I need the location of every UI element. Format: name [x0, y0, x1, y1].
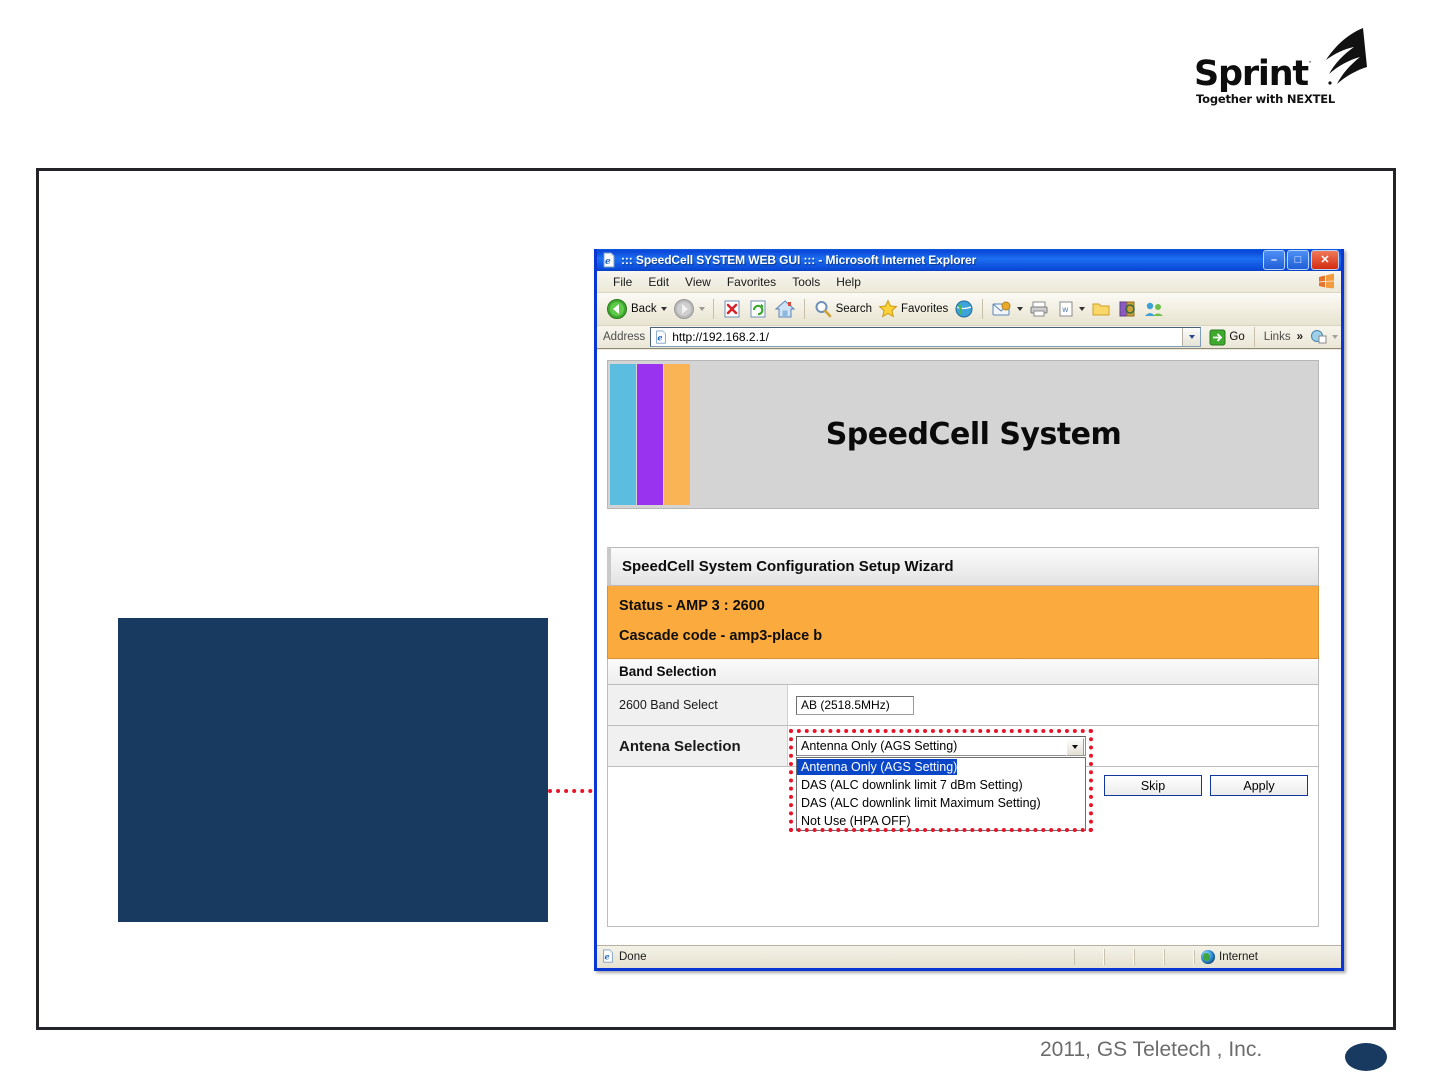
- snapshot-icon: [1310, 329, 1328, 345]
- browser-titlebar: e ::: SpeedCell SYSTEM WEB GUI ::: - Mic…: [597, 249, 1341, 271]
- address-extra-button[interactable]: [1307, 324, 1341, 350]
- band-select-input[interactable]: AB (2518.5MHz): [796, 696, 914, 715]
- address-chevron-down-icon[interactable]: [1182, 328, 1200, 346]
- refresh-button[interactable]: [745, 296, 771, 322]
- menu-item-view[interactable]: View: [677, 275, 719, 289]
- go-button[interactable]: Go: [1205, 329, 1248, 346]
- page-viewport: SpeedCell System SpeedCell System Config…: [597, 350, 1341, 946]
- antenna-selection-row: Antena Selection Antenna Only (AGS Setti…: [607, 726, 1319, 767]
- home-icon: [774, 299, 796, 319]
- forward-arrow-icon: [673, 298, 695, 320]
- internet-zone-globe-icon: [1201, 950, 1215, 964]
- page-banner: SpeedCell System: [607, 360, 1319, 509]
- mail-button[interactable]: [988, 296, 1026, 322]
- minimize-icon[interactable]: –: [1263, 250, 1285, 270]
- refresh-icon: [748, 299, 768, 319]
- antenna-select-value: Antenna Only (AGS Setting): [801, 739, 957, 753]
- svg-text:e: e: [605, 257, 611, 267]
- status-message-area: e Done: [597, 949, 1074, 966]
- favorites-label: Favorites: [901, 303, 948, 315]
- address-url: http://192.168.2.1/: [672, 330, 769, 344]
- forward-chevron-down-icon: [699, 307, 705, 311]
- banner-bar-blue: [610, 364, 636, 505]
- search-label: Search: [836, 303, 872, 315]
- stop-icon: [722, 299, 742, 319]
- history-button[interactable]: [951, 296, 977, 322]
- menu-item-file[interactable]: File: [605, 275, 640, 289]
- banner-title: SpeedCell System: [691, 361, 1318, 508]
- status-amp-line: Status - AMP 3 : 2600: [619, 598, 1318, 614]
- svg-text:e: e: [658, 334, 663, 343]
- edit-document-icon: w: [1057, 300, 1075, 318]
- status-message: Done: [619, 951, 647, 963]
- sprint-tagline: Together with NEXTEL: [1196, 92, 1335, 106]
- browser-menubar: File Edit View Favorites Tools Help: [597, 271, 1341, 293]
- mail-icon: [991, 300, 1013, 318]
- address-label: Address: [603, 331, 645, 343]
- svg-text:w: w: [1062, 305, 1069, 314]
- antenna-select-options: Antenna Only (AGS Setting) DAS (ALC down…: [796, 757, 1086, 831]
- security-zone-label: Internet: [1219, 951, 1258, 963]
- menu-item-tools[interactable]: Tools: [784, 275, 828, 289]
- edit-chevron-down-icon[interactable]: [1079, 307, 1085, 311]
- go-arrow-icon: [1209, 329, 1226, 346]
- footer-copyright: 2011, GS Teletech , Inc.: [1040, 1038, 1262, 1062]
- folder-icon: [1091, 300, 1111, 318]
- menu-item-edit[interactable]: Edit: [640, 275, 677, 289]
- status-panel: Status - AMP 3 : 2600 Cascade code - amp…: [607, 586, 1319, 659]
- messenger-people-icon: [1143, 300, 1165, 318]
- antenna-select[interactable]: Antenna Only (AGS Setting): [796, 736, 1086, 756]
- address-divider: [1254, 327, 1255, 347]
- antenna-selection-value-cell: Antenna Only (AGS Setting) Antenna Only …: [788, 726, 1318, 766]
- antenna-select-wrapper: Antenna Only (AGS Setting) Antenna Only …: [796, 736, 1086, 756]
- browser-window: e ::: SpeedCell SYSTEM WEB GUI ::: - Mic…: [594, 249, 1344, 971]
- browser-title: ::: SpeedCell SYSTEM WEB GUI ::: - Micro…: [621, 253, 976, 267]
- close-icon[interactable]: ✕: [1311, 250, 1339, 270]
- edit-button[interactable]: w: [1054, 296, 1088, 322]
- address-extra-chevron-icon: [1332, 335, 1338, 339]
- wizard-heading: SpeedCell System Configuration Setup Wiz…: [607, 547, 1319, 586]
- messenger-button[interactable]: [1140, 296, 1168, 322]
- menu-item-help[interactable]: Help: [828, 275, 869, 289]
- antenna-option-not-use[interactable]: Not Use (HPA OFF): [797, 813, 911, 829]
- band-select-row: 2600 Band Select AB (2518.5MHz): [607, 685, 1319, 726]
- browser-addressbar: Address e http://192.168.2.1/ Go Links »: [597, 326, 1341, 349]
- book-search-icon: [1117, 300, 1137, 318]
- skip-button[interactable]: Skip: [1104, 775, 1202, 796]
- svg-text:e: e: [605, 952, 610, 961]
- sprint-logo: Sprint · Together with NEXTEL: [1186, 26, 1366, 114]
- search-icon: [813, 299, 833, 319]
- antenna-selection-label: Antena Selection: [608, 726, 788, 766]
- windows-flag-icon: [1318, 273, 1335, 290]
- maximize-icon[interactable]: □: [1287, 250, 1309, 270]
- antenna-option-das-maximum[interactable]: DAS (ALC downlink limit Maximum Setting): [797, 795, 1041, 811]
- print-button[interactable]: [1026, 296, 1054, 322]
- statusbar-cell-3: [1134, 949, 1164, 965]
- back-arrow-icon: [606, 298, 628, 320]
- links-label: Links: [1264, 331, 1291, 343]
- sprint-wing-icon: [1304, 26, 1368, 92]
- statusbar-cell-4: [1164, 949, 1194, 965]
- stop-button[interactable]: [719, 296, 745, 322]
- forward-button[interactable]: [670, 296, 708, 322]
- band-select-label: 2600 Band Select: [608, 685, 788, 725]
- banner-bar-orange: [664, 364, 690, 505]
- links-button[interactable]: Links »: [1260, 331, 1307, 343]
- window-controls: – □ ✕: [1263, 250, 1339, 270]
- band-selection-heading: Band Selection: [607, 659, 1319, 685]
- page-icon: e: [601, 252, 617, 268]
- security-zone[interactable]: Internet: [1194, 950, 1341, 964]
- home-button[interactable]: [771, 296, 799, 322]
- toolbar-divider-3: [982, 299, 983, 319]
- apply-button[interactable]: Apply: [1210, 775, 1308, 796]
- address-input[interactable]: e http://192.168.2.1/: [650, 327, 1201, 347]
- browser-toolbar: Back: [597, 293, 1341, 326]
- statusbar-cell-2: [1104, 949, 1134, 965]
- search-button[interactable]: Search: [810, 296, 875, 322]
- back-label: Back: [631, 303, 657, 315]
- favorites-button[interactable]: Favorites: [875, 296, 951, 322]
- research-button[interactable]: [1114, 296, 1140, 322]
- sprint-wordmark: Sprint: [1194, 54, 1308, 94]
- toolbar-divider: [713, 299, 714, 319]
- address-page-icon: e: [654, 330, 668, 344]
- browser-statusbar: e Done Internet: [597, 945, 1341, 968]
- star-icon: [878, 299, 898, 319]
- menu-item-favorites[interactable]: Favorites: [719, 275, 784, 289]
- footer-dot-decoration: [1345, 1043, 1387, 1071]
- go-label: Go: [1229, 331, 1244, 343]
- band-select-value-cell: AB (2518.5MHz): [788, 685, 1318, 725]
- status-page-icon: e: [601, 949, 615, 966]
- cascade-code-line: Cascade code - amp3-place b: [619, 628, 1318, 644]
- annotation-callout-box: [118, 618, 548, 922]
- links-chevrons-icon[interactable]: »: [1297, 331, 1303, 343]
- antenna-option-das-7dbm[interactable]: DAS (ALC downlink limit 7 dBm Setting): [797, 777, 1023, 793]
- statusbar-cell-1: [1074, 949, 1104, 965]
- antenna-option-antenna-only[interactable]: Antenna Only (AGS Setting): [797, 759, 957, 775]
- antenna-select-chevron-down-icon[interactable]: [1066, 738, 1084, 756]
- toolbar-divider-2: [804, 299, 805, 319]
- printer-icon: [1029, 300, 1051, 318]
- back-button[interactable]: Back: [603, 296, 670, 322]
- banner-bar-purple: [637, 364, 663, 505]
- mail-chevron-down-icon[interactable]: [1017, 307, 1023, 311]
- folder-button[interactable]: [1088, 296, 1114, 322]
- history-globe-icon: [954, 299, 974, 319]
- back-chevron-down-icon[interactable]: [661, 307, 667, 311]
